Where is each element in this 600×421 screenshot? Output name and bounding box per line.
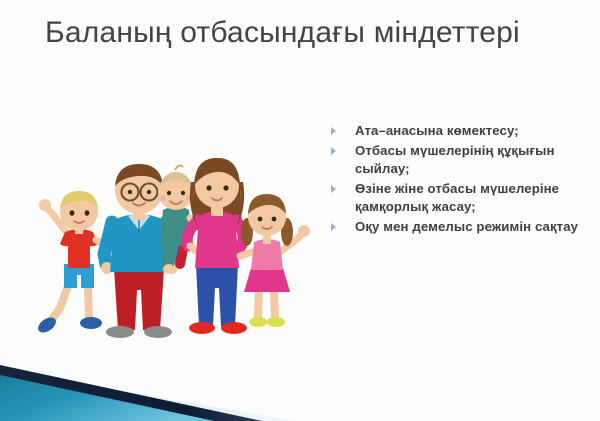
list-item: Оқу мен демелыс режимін сақтау [331,218,593,237]
bullet-arrow-icon [331,127,336,135]
figure-girl [240,194,310,327]
figure-mother [187,158,247,334]
slide: Баланың отбасындағы міндеттері .sk{fill:… [0,0,600,421]
list-item: Отбасы мүшелерінің құқығын сыйлау; [331,142,593,179]
list-item-label: Оқу мен демелыс режимін сақтау [355,219,578,234]
list-item: Ата–анасына көмектесу; [331,122,593,141]
family-illustration: .sk{fill:#f3c9a4} .skl{fill:#f7d6b5} .ln… [8,104,318,349]
list-item-label: Өзіне жіне отбасы мүшелеріне қамқорлық ж… [355,181,559,215]
decorative-corner-band [0,351,600,421]
list-item: Өзіне жіне отбасы мүшелеріне қамқорлық ж… [331,180,593,217]
bullet-arrow-icon [331,147,336,155]
bullet-arrow-icon [331,185,336,193]
bullet-arrow-icon [331,223,336,231]
list-item-label: Ата–анасына көмектесу; [355,123,519,138]
page-title: Баланың отбасындағы міндеттері [45,13,575,53]
list-item-label: Отбасы мүшелерінің құқығын сыйлау; [355,143,555,177]
bullet-list: Ата–анасына көмектесу; Отбасы мүшелеріні… [331,122,593,238]
